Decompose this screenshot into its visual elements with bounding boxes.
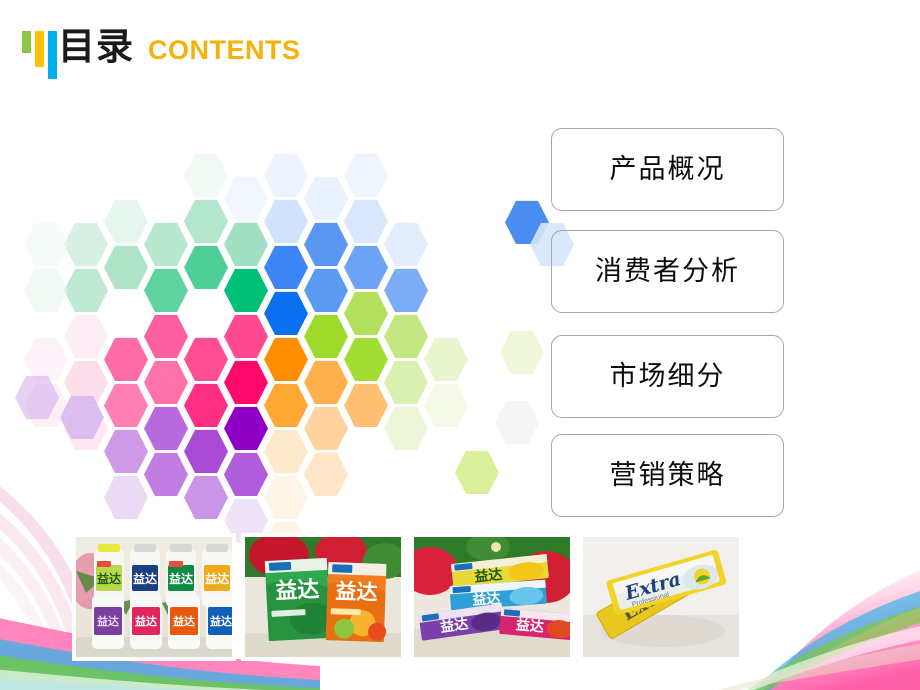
hexagon-tile [104,245,148,290]
hexagon-tile [224,360,268,405]
hexagon-tile [144,406,188,451]
svg-text:益达: 益达 [275,576,320,604]
photo-gum-packs-multicolor[interactable]: 益达 益达 [410,533,574,661]
hexagon-tile [184,153,228,198]
hexagon-tile [304,176,348,221]
slide-canvas: 目录 CONTENTS 产品概况 消费者分析 市场细分 营销策略 [0,0,920,690]
hexagon-tile [264,199,308,244]
hexagon-tile [224,406,268,451]
hexagon-tile [344,153,388,198]
hexagon-tile [304,314,348,359]
svg-text:益达: 益达 [335,578,378,604]
menu-item-label: 产品概况 [610,156,726,183]
hexagon-tile [384,222,428,267]
green-bar-icon [22,31,31,53]
hexagon-tile [24,383,68,428]
hexagon-tile [424,383,468,428]
hexagon-tile [304,452,348,497]
hexagon-tile [24,337,68,382]
hexagon-tile [304,222,348,267]
hexagon-tile [184,475,228,520]
hexagon-tile [144,268,188,313]
svg-text:益达: 益达 [97,571,121,586]
menu-item-label: 市场细分 [610,363,726,390]
hexagon-tile [144,314,188,359]
page-title: 目录 CONTENTS [58,28,301,65]
hexagon-tile [184,337,228,382]
hexagon-tile [264,429,308,474]
svg-text:益达: 益达 [133,571,157,586]
hexagon-tile [264,383,308,428]
page-title-cn: 目录 [58,28,134,65]
hexagon-tile [224,222,268,267]
svg-text:益达: 益达 [205,571,229,586]
hexagon-tile [344,383,388,428]
hexagon-tile [384,360,428,405]
hexagon-tile [144,360,188,405]
hexagon-tile [104,199,148,244]
hexagon-tile [224,268,268,313]
hexagon-tile [264,153,308,198]
hexagon-tile [264,475,308,520]
hexagon-tile [64,314,108,359]
menu-item-marketing-strategy[interactable]: 营销策略 [551,434,784,517]
menu-item-label: 营销策略 [610,462,726,489]
hexagon-tile [184,199,228,244]
hexagon-tile [304,406,348,451]
hexagon-tile [64,360,108,405]
hexagon-tile [384,268,428,313]
hexagon-tile [344,199,388,244]
svg-text:益达: 益达 [210,614,232,628]
hexagon-tile [64,222,108,267]
hexagon-tile [24,222,68,267]
menu-item-consumer-analysis[interactable]: 消费者分析 [551,230,784,313]
hexagon-tile [344,291,388,336]
svg-text:益达: 益达 [173,614,195,628]
hexagon-tile [24,268,68,313]
slide-header: 目录 CONTENTS [0,0,920,110]
hexagon-tile [224,176,268,221]
svg-text:益达: 益达 [515,616,544,635]
svg-text:益达: 益达 [135,614,157,628]
hexagon-tile [264,245,308,290]
hexagon-tile [384,406,428,451]
hexagon-tile [184,245,228,290]
product-photo-strip: 益达 益达 益达 [72,533,810,661]
hexagon-tile [424,337,468,382]
hexagon-tile [344,337,388,382]
hexagon-tile [144,222,188,267]
hexagon-mosaic [0,170,545,550]
hexagon-tile [264,337,308,382]
hexagon-tile [104,383,148,428]
photo-extra-professional[interactable]: Ext Extra Professional [579,533,743,661]
hexagon-tile [184,383,228,428]
hexagon-tile [304,360,348,405]
hexagon-tile [224,452,268,497]
svg-text:益达: 益达 [97,614,119,628]
svg-text:益达: 益达 [169,571,193,586]
hexagon-tile [264,291,308,336]
hexagon-tile [104,475,148,520]
hexagon-tile [184,429,228,474]
hexagon-tile [104,429,148,474]
three-bar-logo [22,31,56,79]
hexagon-tile [384,314,428,359]
hexagon-tile [344,245,388,290]
hexagon-tile [64,268,108,313]
hexagon-tile [224,314,268,359]
hexagon-tile [64,406,108,451]
hexagon-tile [144,452,188,497]
hexagon-tile [104,337,148,382]
menu-item-market-segmentation[interactable]: 市场细分 [551,335,784,418]
page-title-en: CONTENTS [148,37,301,64]
cyan-bar-icon [48,31,57,79]
menu-item-label: 消费者分析 [595,258,740,285]
photo-gum-boxes-green-orange[interactable]: 益达 益达 [241,533,405,661]
svg-text:益达: 益达 [474,566,504,586]
menu-item-product-overview[interactable]: 产品概况 [551,128,784,211]
photo-gum-bottles[interactable]: 益达 益达 益达 [72,533,236,661]
hexagon-tile [304,268,348,313]
yellow-bar-icon [35,31,44,67]
